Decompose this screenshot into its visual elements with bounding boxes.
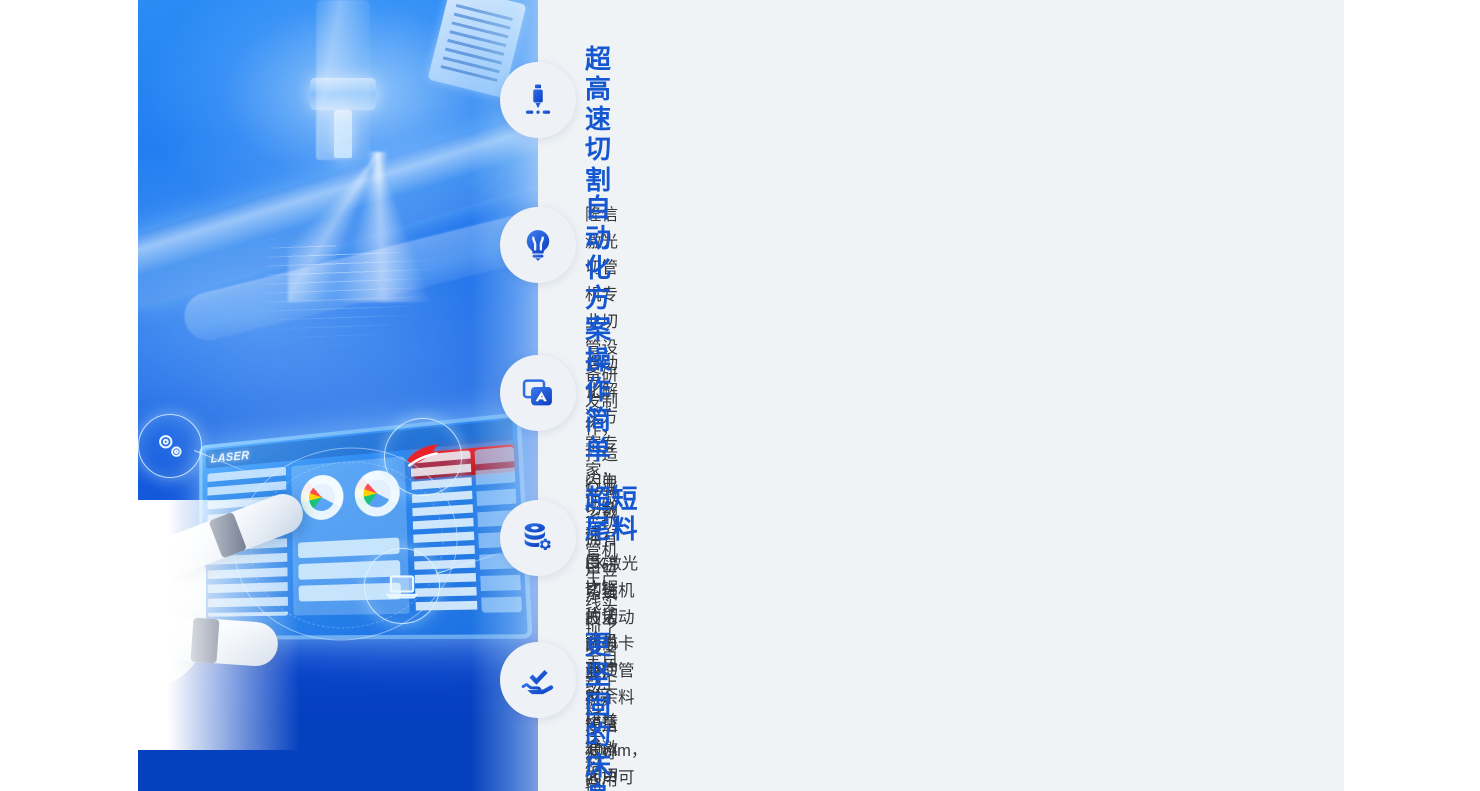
- hand-check-icon: [500, 642, 576, 718]
- feature-page: LASER: [0, 0, 1480, 791]
- feature-title: 超高速切割: [585, 44, 618, 195]
- database-gear-icon: [500, 500, 576, 576]
- card-letter-a-icon: [500, 355, 576, 431]
- feature-title: 操作简单: [585, 345, 618, 466]
- feature-title: 自动化方案: [585, 193, 618, 344]
- feature-text-block: 更坚固的床身 机架框架式结构+去应力退火+时效工艺处理，即使在高速切削过程中也能…: [585, 630, 624, 791]
- feature-title: 更坚固的床身: [585, 630, 624, 791]
- feature-list: 超高速切割 隆信激光切管机专业切管设备研发制作，打造闪电切割速度，比锯片切割机高…: [0, 0, 1480, 791]
- feature-title: 超短尾料: [585, 484, 647, 544]
- laser-cutting-head-icon: [500, 62, 576, 138]
- lightbulb-icon: [500, 207, 576, 283]
